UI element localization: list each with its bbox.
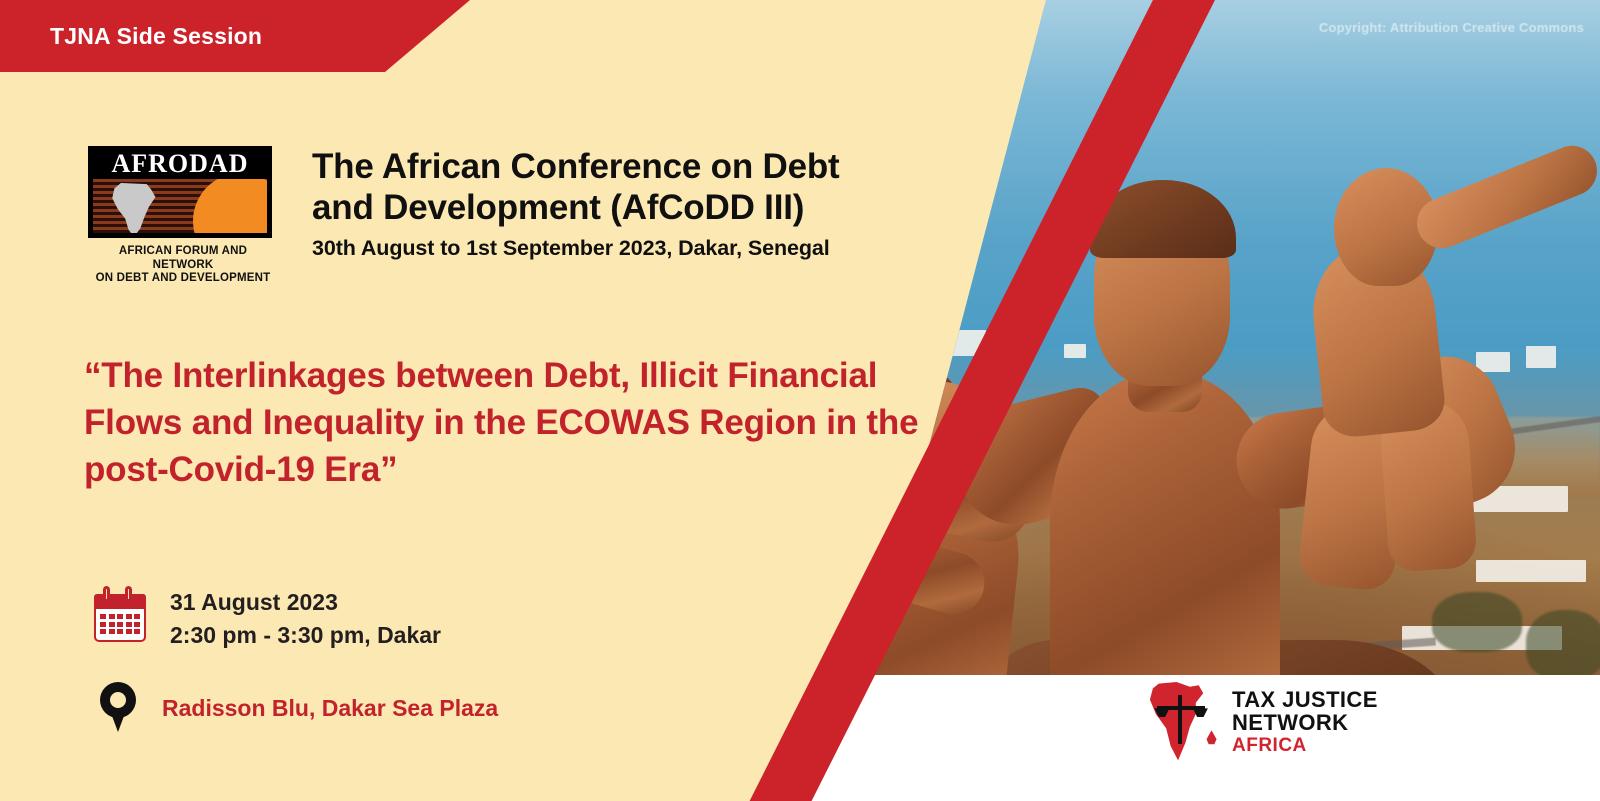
session-title: “The Interlinkages between Debt, Illicit… <box>84 352 944 493</box>
photo-credit: Copyright: Attribution Creative Commons <box>1319 20 1584 35</box>
conference-subtitle: 30th August to 1st September 2023, Dakar… <box>312 236 840 261</box>
afrodad-logo-mark: AFRODAD <box>88 146 272 238</box>
event-venue: Radisson Blu, Dakar Sea Plaza <box>162 695 498 722</box>
afrodad-wordmark: AFRODAD <box>90 148 270 179</box>
event-poster: Copyright: Attribution Creative Commons … <box>0 0 1600 801</box>
sun-icon <box>193 179 267 233</box>
conference-title-block: The African Conference on Debt and Devel… <box>312 146 840 261</box>
conference-title-line1: The African Conference on Debt <box>312 146 840 187</box>
tjna-line3: AFRICA <box>1232 734 1378 757</box>
vegetation <box>1526 610 1600 680</box>
building <box>996 338 1022 356</box>
location-pin-icon <box>96 682 140 734</box>
building <box>1476 560 1586 582</box>
afrodad-logo: AFRODAD AFRICAN FORUM AND NETWORK ON DEB… <box>88 146 278 286</box>
date-time-text: 31 August 2023 2:30 pm - 3:30 pm, Dakar <box>170 586 441 652</box>
afrodad-caption-line2: ON DEBT AND DEVELOPMENT <box>88 272 278 286</box>
afrodad-caption: AFRICAN FORUM AND NETWORK ON DEBT AND DE… <box>88 245 278 286</box>
event-details: 31 August 2023 2:30 pm - 3:30 pm, Dakar … <box>92 586 498 734</box>
calendar-icon <box>92 586 148 642</box>
conference-title: The African Conference on Debt and Devel… <box>312 146 840 228</box>
event-date: 31 August 2023 <box>170 586 441 619</box>
side-session-label: TJNA Side Session <box>50 23 262 50</box>
tjna-line1: TAX JUSTICE <box>1232 688 1378 711</box>
event-time: 2:30 pm - 3:30 pm, Dakar <box>170 619 441 652</box>
africa-map-icon <box>109 183 163 233</box>
tjna-line2: NETWORK <box>1232 711 1378 734</box>
date-row: 31 August 2023 2:30 pm - 3:30 pm, Dakar <box>92 586 498 652</box>
africa-scales-of-justice-icon <box>1144 682 1218 762</box>
building <box>1526 346 1556 368</box>
conference-header: AFRODAD AFRICAN FORUM AND NETWORK ON DEB… <box>88 146 840 286</box>
building <box>944 330 986 356</box>
afrodad-logo-art <box>93 179 267 233</box>
venue-row: Radisson Blu, Dakar Sea Plaza <box>92 682 498 734</box>
side-session-banner: TJNA Side Session <box>0 0 470 72</box>
tjna-logo: TAX JUSTICE NETWORK AFRICA <box>1144 682 1378 762</box>
tjna-wordmark: TAX JUSTICE NETWORK AFRICA <box>1232 688 1378 757</box>
conference-title-line2: and Development (AfCoDD III) <box>312 187 840 228</box>
vegetation <box>1432 592 1522 652</box>
afrodad-caption-line1: AFRICAN FORUM AND NETWORK <box>88 245 278 272</box>
building <box>1064 344 1086 358</box>
